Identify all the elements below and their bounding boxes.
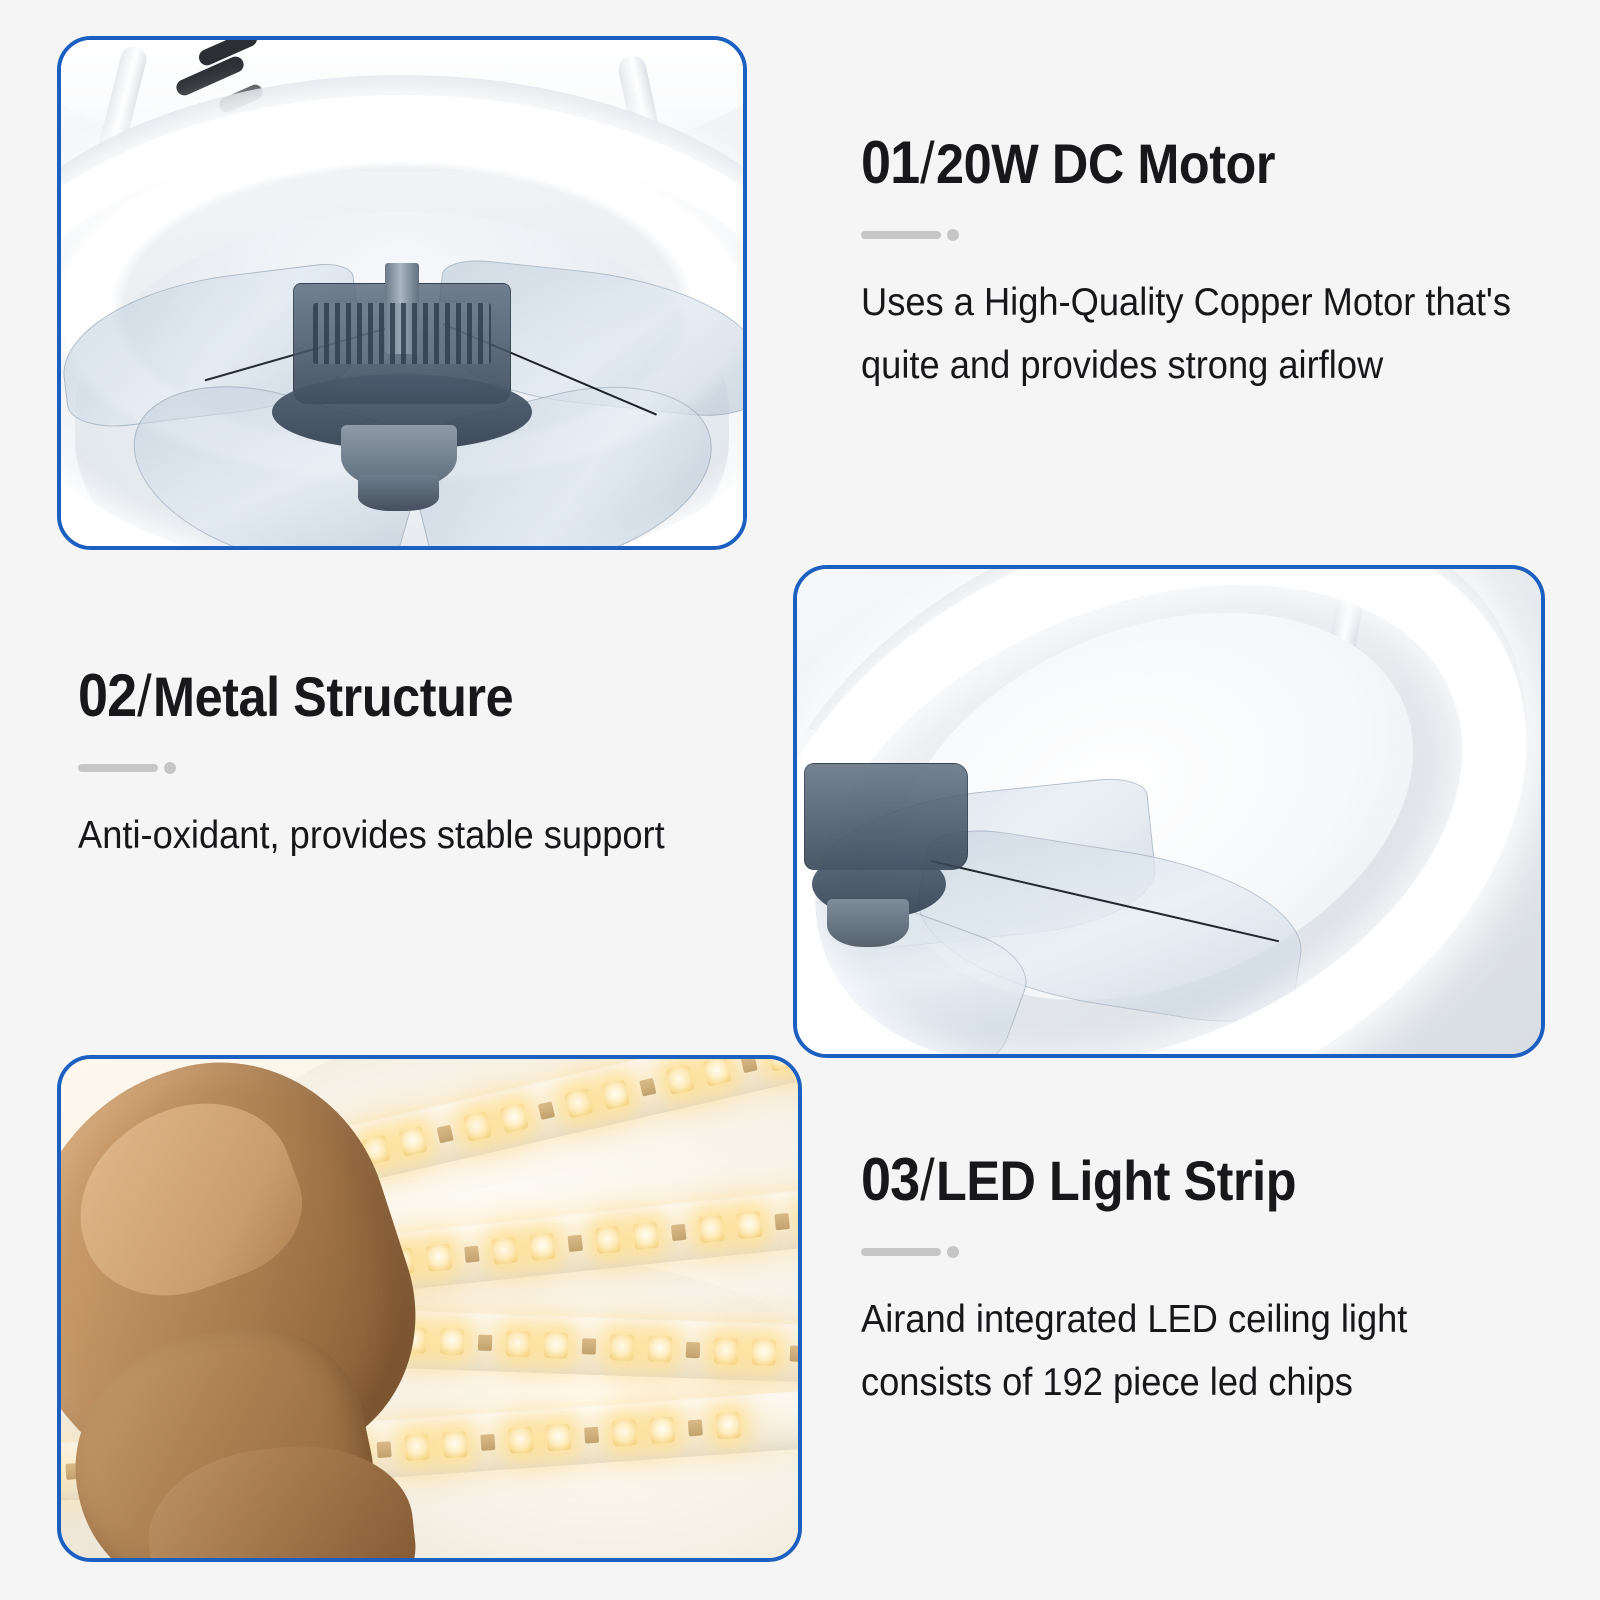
divider-bar <box>861 1248 941 1256</box>
feature-divider-01 <box>861 229 1561 241</box>
divider-dot <box>947 229 959 241</box>
feature-block-01: 01/20W DC Motor Uses a High-Quality Copp… <box>861 131 1561 397</box>
feature-separator-02: / <box>136 664 153 729</box>
feature-body-02: Anti-oxidant, provides stable support <box>78 804 673 867</box>
feature-divider-03 <box>861 1246 1561 1258</box>
divider-bar <box>861 231 941 239</box>
feature-image-led-strip <box>57 1055 802 1562</box>
feature-separator-01: / <box>919 131 936 196</box>
feature-heading-02: 02/Metal Structure <box>78 664 654 728</box>
feature-number-02: 02 <box>78 662 136 729</box>
feature-body-03: Airand integrated LED ceiling light cons… <box>861 1288 1512 1414</box>
feature-title-01: 20W DC Motor <box>936 132 1275 195</box>
feature-heading-03: 03/LED Light Strip <box>861 1148 1491 1212</box>
feature-body-01: Uses a High-Quality Copper Motor that's … <box>861 271 1512 397</box>
feature-image-structure <box>793 565 1545 1058</box>
feature-separator-03: / <box>919 1148 936 1213</box>
feature-heading-01: 01/20W DC Motor <box>861 131 1491 195</box>
divider-dot <box>947 1246 959 1258</box>
feature-number-03: 03 <box>861 1146 919 1213</box>
divider-dot <box>164 762 176 774</box>
divider-bar <box>78 764 158 772</box>
feature-title-02: Metal Structure <box>153 665 513 728</box>
feature-number-01: 01 <box>861 129 919 196</box>
product-feature-infographic: 01/20W DC Motor Uses a High-Quality Copp… <box>0 0 1600 1600</box>
feature-block-03: 03/LED Light Strip Airand integrated LED… <box>861 1148 1561 1414</box>
feature-divider-02 <box>78 762 718 774</box>
feature-block-02: 02/Metal Structure Anti-oxidant, provide… <box>78 664 718 867</box>
feature-title-03: LED Light Strip <box>936 1149 1296 1212</box>
feature-image-motor <box>57 36 747 550</box>
